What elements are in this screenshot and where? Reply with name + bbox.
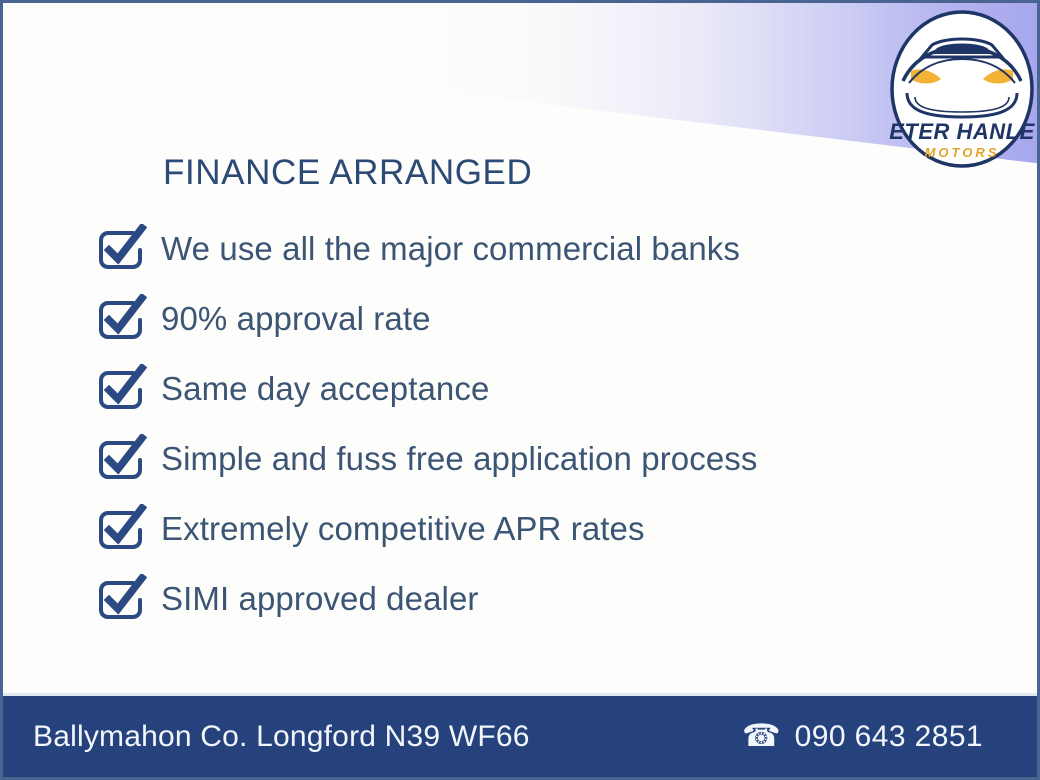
list-item-label: Extremely competitive APR rates [161, 512, 645, 545]
phone-contact[interactable]: ☎ 090 643 2851 [742, 720, 1007, 754]
feature-list: We use all the major commercial banks 90… [95, 213, 995, 633]
list-item-label: Simple and fuss free application process [161, 442, 758, 475]
list-item: Simple and fuss free application process [95, 423, 995, 493]
list-item-label: SIMI approved dealer [161, 582, 479, 615]
checkbox-checked-icon [95, 224, 147, 274]
peter-hanley-motors-logo: PETER HANLEY MOTORS [889, 9, 1035, 169]
list-item: SIMI approved dealer [95, 563, 995, 633]
telephone-icon: ☎ [742, 720, 781, 751]
footer-bar: Ballymahon Co. Longford N39 WF66 ☎ 090 6… [3, 696, 1037, 777]
list-item-label: We use all the major commercial banks [161, 232, 740, 265]
list-item-label: 90% approval rate [161, 302, 431, 335]
list-item-label: Same day acceptance [161, 372, 489, 405]
list-item: Extremely competitive APR rates [95, 493, 995, 563]
dealer-address: Ballymahon Co. Longford N39 WF66 [33, 720, 530, 754]
checkbox-checked-icon [95, 364, 147, 414]
checkbox-checked-icon [95, 574, 147, 624]
finance-banner: PETER HANLEY MOTORS FINANCE ARRANGED We … [0, 0, 1040, 780]
phone-number[interactable]: 090 643 2851 [795, 720, 983, 754]
list-item: We use all the major commercial banks [95, 213, 995, 283]
page-title: FINANCE ARRANGED [163, 153, 532, 193]
checkbox-checked-icon [95, 294, 147, 344]
checkbox-checked-icon [95, 434, 147, 484]
checkbox-checked-icon [95, 504, 147, 554]
logo-name-text: PETER HANLEY [889, 119, 1035, 144]
logo-sub-text: MOTORS [925, 145, 1000, 160]
list-item: Same day acceptance [95, 353, 995, 423]
list-item: 90% approval rate [95, 283, 995, 353]
